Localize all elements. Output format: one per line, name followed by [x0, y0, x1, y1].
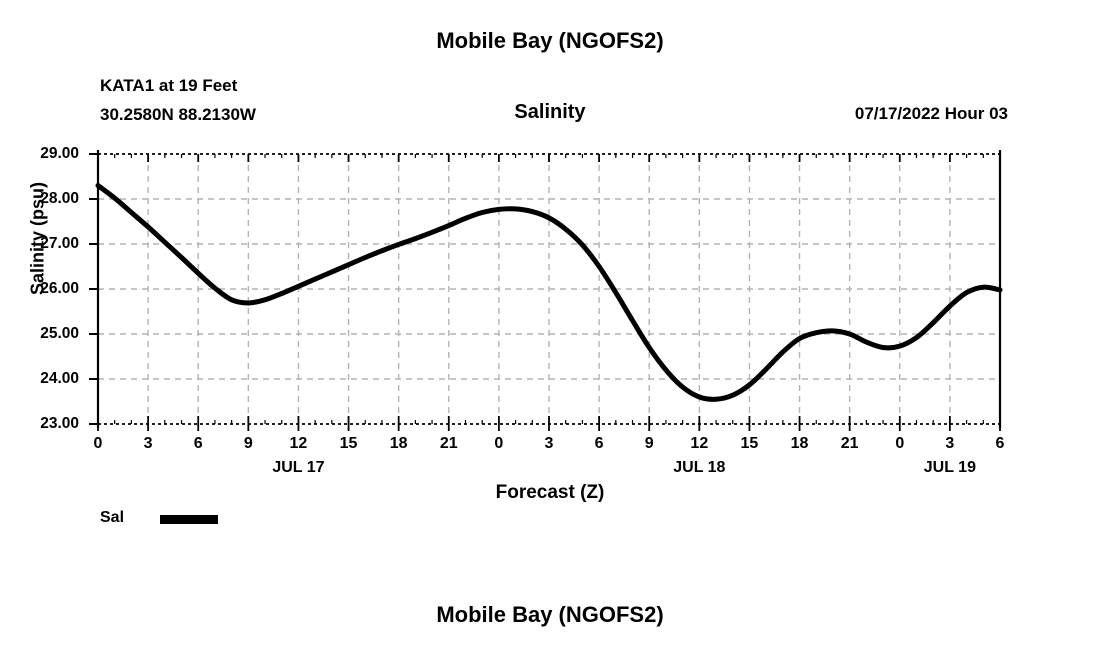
y-tick-label: 28.00	[9, 190, 79, 208]
x-tick-label: 18	[379, 435, 419, 453]
chart-page: Mobile Bay (NGOFS2) KATA1 at 19 Feet 30.…	[0, 0, 1100, 650]
x-tick-label: 6	[980, 435, 1020, 453]
y-tick-label: 23.00	[9, 415, 79, 433]
x-tick-label: 6	[579, 435, 619, 453]
legend-line-swatch	[160, 515, 218, 524]
legend-label: Sal	[100, 509, 124, 527]
axis-ticks	[89, 154, 1000, 431]
x-tick-label: 21	[429, 435, 469, 453]
day-label: JUL 17	[238, 459, 358, 477]
y-tick-label: 25.00	[9, 325, 79, 343]
day-label: JUL 19	[890, 459, 1010, 477]
grid-lines	[98, 154, 1000, 424]
x-tick-label: 9	[629, 435, 669, 453]
y-tick-label: 29.00	[9, 145, 79, 163]
x-tick-label: 3	[930, 435, 970, 453]
y-tick-label: 24.00	[9, 370, 79, 388]
x-tick-label: 0	[78, 435, 118, 453]
x-tick-label: 12	[278, 435, 318, 453]
page-title-bottom: Mobile Bay (NGOFS2)	[0, 602, 1100, 628]
y-tick-label: 27.00	[9, 235, 79, 253]
x-tick-label: 3	[529, 435, 569, 453]
x-tick-label: 18	[780, 435, 820, 453]
y-tick-label: 26.00	[9, 280, 79, 298]
x-tick-label: 0	[880, 435, 920, 453]
day-label: JUL 18	[639, 459, 759, 477]
x-tick-label: 0	[479, 435, 519, 453]
x-tick-label: 12	[679, 435, 719, 453]
x-tick-label: 15	[329, 435, 369, 453]
x-tick-label: 3	[128, 435, 168, 453]
x-tick-label: 9	[228, 435, 268, 453]
x-tick-label: 21	[830, 435, 870, 453]
x-tick-label: 15	[729, 435, 769, 453]
plot-area	[0, 0, 1100, 650]
x-tick-label: 6	[178, 435, 218, 453]
